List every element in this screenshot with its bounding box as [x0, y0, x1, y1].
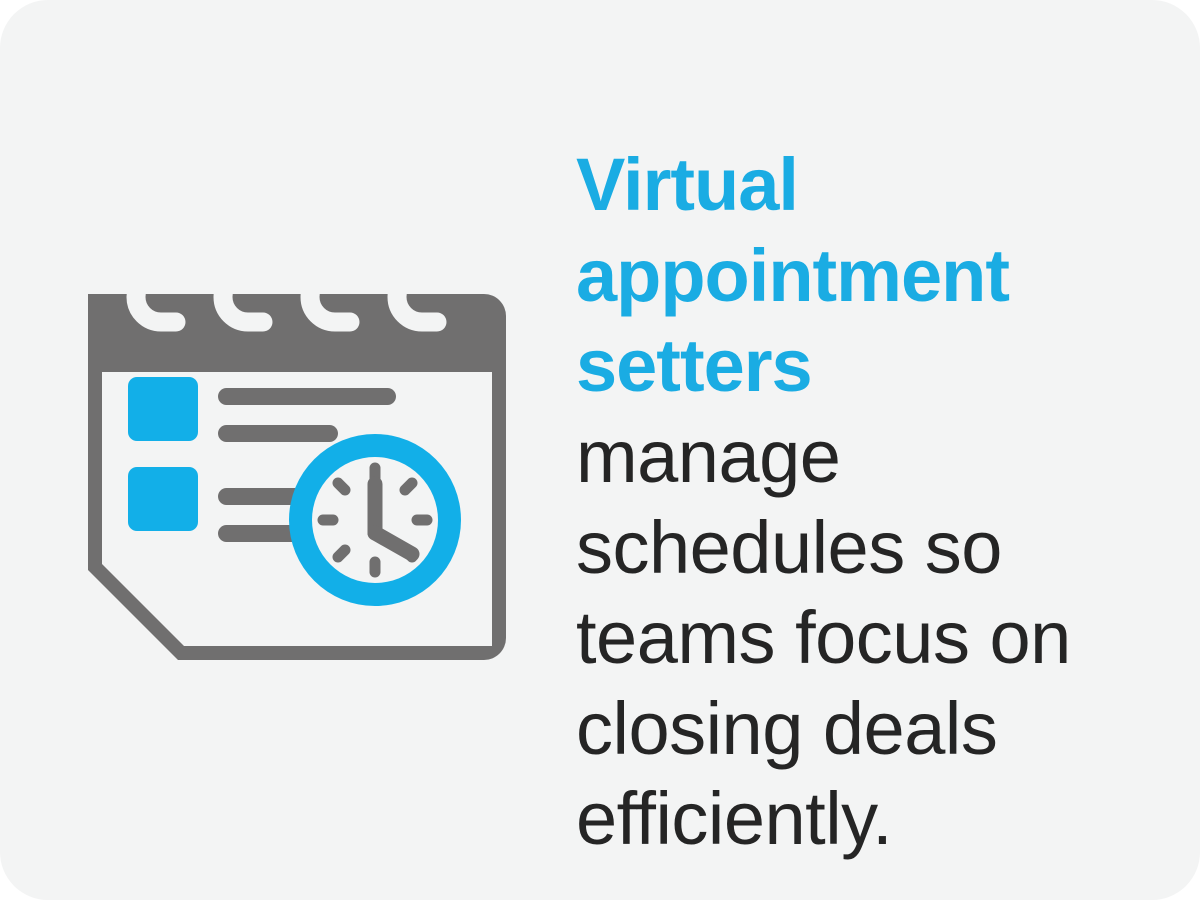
headline-body: manage schedules so teams focus on closi…	[576, 415, 1071, 861]
infographic-card: Virtual appointment setters manage sched…	[0, 0, 1200, 900]
calendar-clock-illustration	[60, 222, 522, 672]
headline-highlight: Virtual appointment setters	[576, 143, 1009, 407]
clock-tick-1-30	[405, 483, 412, 490]
agenda-line-2	[218, 425, 338, 442]
headline-paragraph: Virtual appointment setters manage sched…	[576, 140, 1096, 865]
calendar-clock-icon	[60, 222, 522, 672]
clock-group	[289, 434, 461, 606]
event-swatch-2	[128, 467, 198, 531]
clock-tick-10-30	[338, 483, 345, 490]
agenda-line-1	[218, 388, 396, 405]
event-swatch-1	[128, 377, 198, 441]
clock-tick-7-30	[338, 550, 345, 557]
